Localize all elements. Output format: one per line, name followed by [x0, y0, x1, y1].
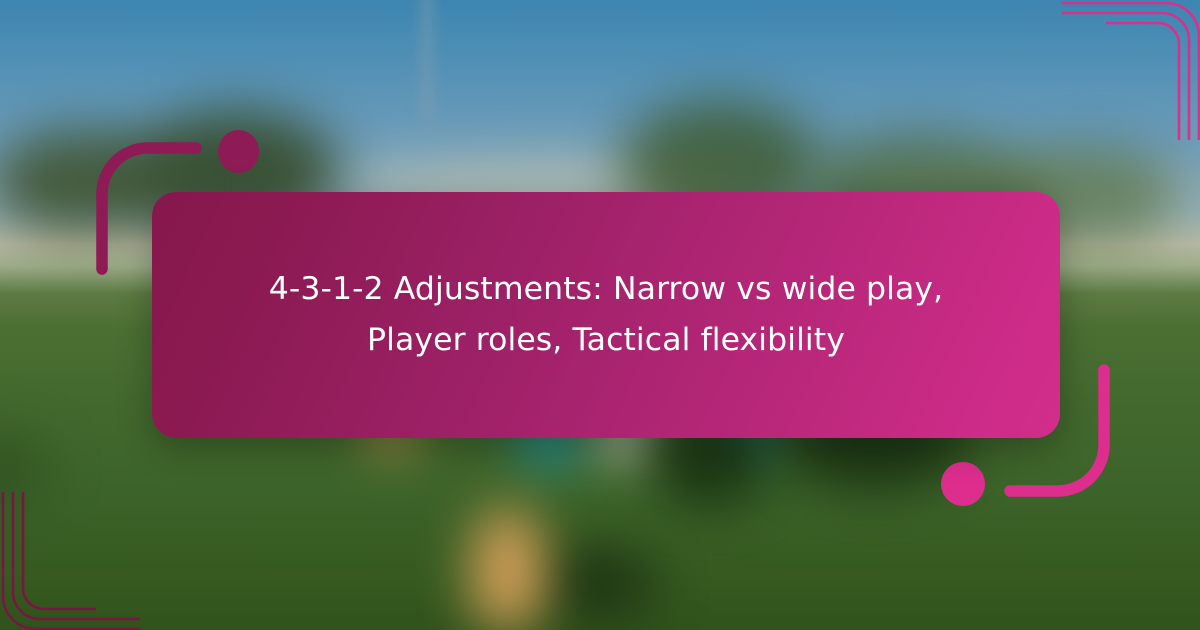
headline-card: 4-3-1-2 Adjustments: Narrow vs wide play… [152, 192, 1060, 438]
background-pole [422, 0, 432, 120]
background-foreground-cone [472, 508, 544, 628]
page-title: 4-3-1-2 Adjustments: Narrow vs wide play… [236, 264, 976, 366]
dot-top-left-icon [218, 130, 259, 173]
social-card-canvas: 4-3-1-2 Adjustments: Narrow vs wide play… [0, 0, 1200, 630]
dot-bottom-right-icon [941, 462, 985, 506]
